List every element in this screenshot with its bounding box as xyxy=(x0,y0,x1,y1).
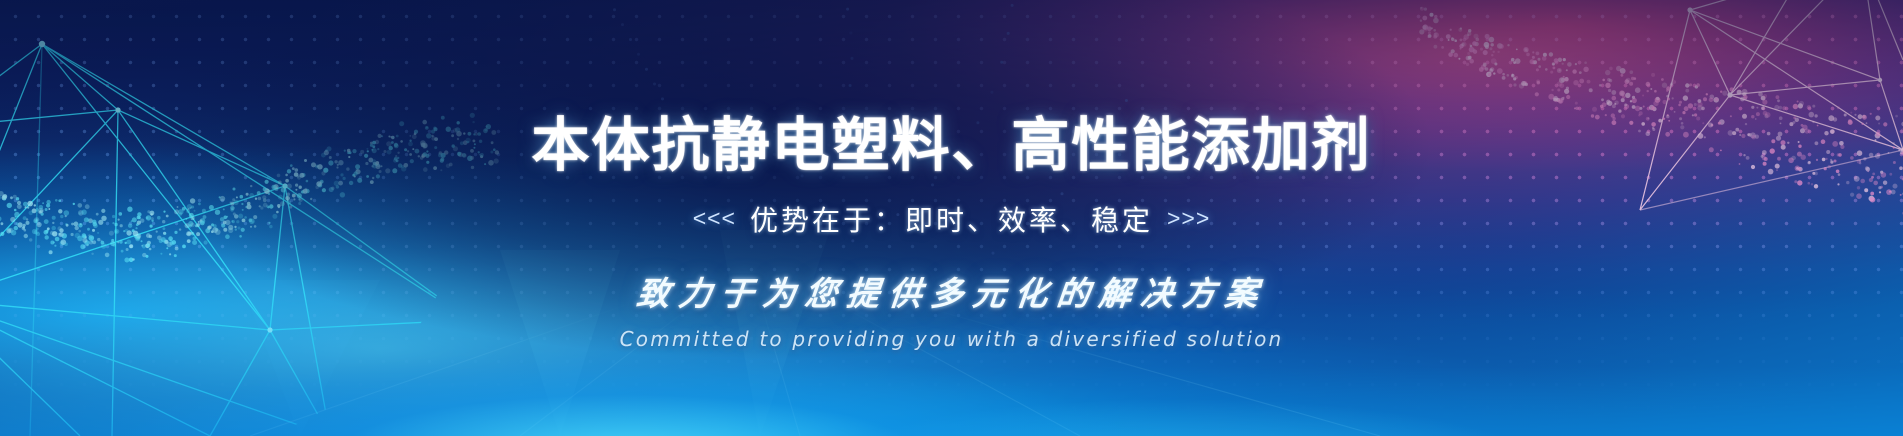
banner-subline: <<< 优势在于：即时、效率、稳定 >>> xyxy=(693,199,1211,239)
banner-subline-text: 优势在于：即时、效率、稳定 xyxy=(750,199,1153,239)
hero-banner: 本体抗静电塑料、高性能添加剂 <<< 优势在于：即时、效率、稳定 >>> 致力于… xyxy=(0,0,1903,436)
banner-headline: 本体抗静电塑料、高性能添加剂 xyxy=(531,116,1371,177)
chevron-left-icon: <<< xyxy=(693,205,736,232)
chevron-right-icon: >>> xyxy=(1167,205,1210,232)
banner-english-line: Committed to providing you with a divers… xyxy=(620,327,1284,351)
banner-content: 本体抗静电塑料、高性能添加剂 <<< 优势在于：即时、效率、稳定 >>> 致力于… xyxy=(0,0,1903,436)
banner-calligraphy-line: 致力于为您提供多元化的解决方案 xyxy=(634,267,1269,315)
